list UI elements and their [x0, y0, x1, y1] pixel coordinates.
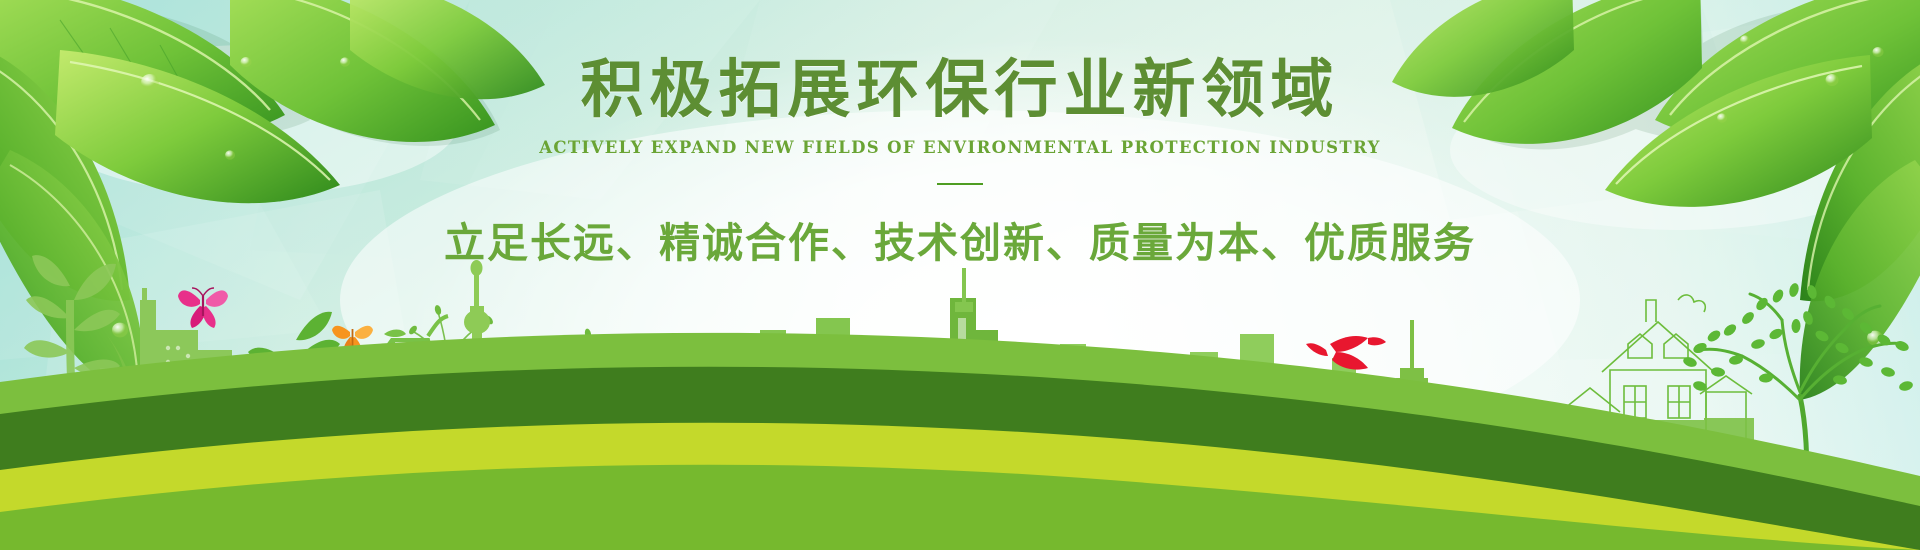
- banner-text-block: 积极拓展环保行业新领域 ACTIVELY EXPAND NEW FIELDS O…: [0, 0, 1920, 269]
- subtitle-english: ACTIVELY EXPAND NEW FIELDS OF ENVIRONMEN…: [0, 138, 1920, 157]
- divider-line: [937, 183, 983, 185]
- page-title: 积极拓展环保行业新领域: [0, 0, 1920, 122]
- eco-banner: 积极拓展环保行业新领域 ACTIVELY EXPAND NEW FIELDS O…: [0, 0, 1920, 550]
- company-slogan: 立足长远、精诚合作、技术创新、质量为本、优质服务: [0, 209, 1920, 269]
